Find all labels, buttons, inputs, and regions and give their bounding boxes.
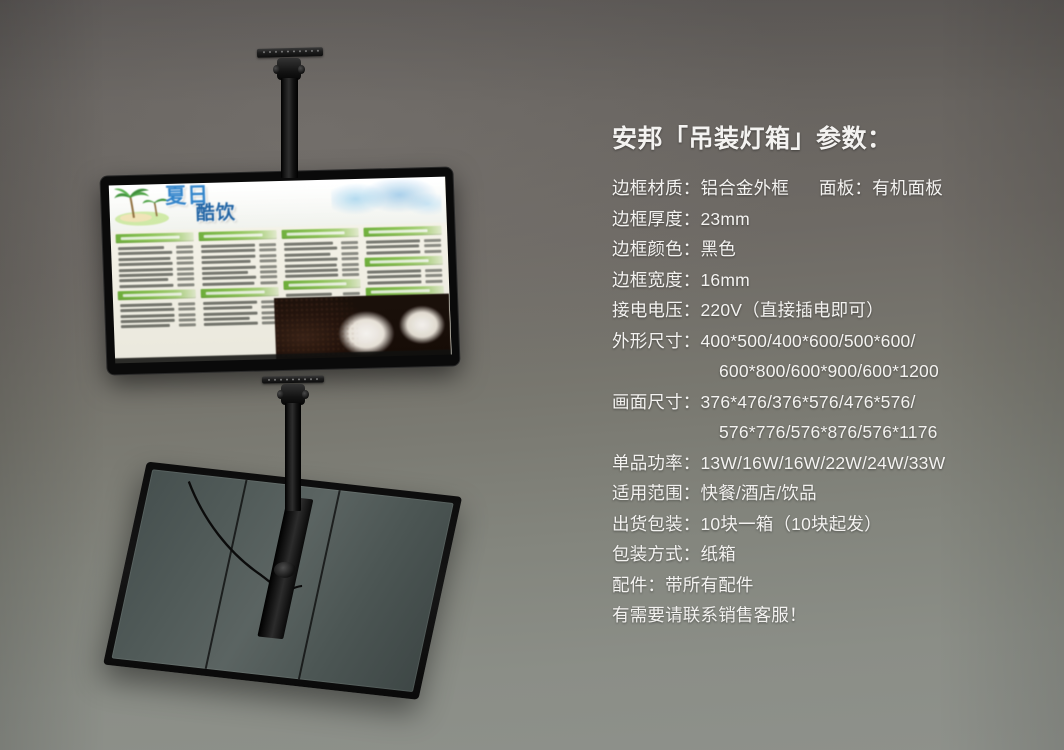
product-photo: 夏日 酷饮 bbox=[0, 0, 1064, 750]
menu-item-row bbox=[201, 259, 276, 264]
spec-line-application: 适用范围：快餐/酒店/饮品 bbox=[612, 478, 1042, 509]
water-splash-graphic bbox=[331, 178, 443, 223]
menu-category-header bbox=[118, 289, 196, 300]
menu-item-price bbox=[177, 278, 194, 281]
menu-category-header bbox=[198, 230, 276, 241]
menu-item-name bbox=[284, 263, 336, 267]
spec-label: 边框厚度： bbox=[612, 209, 701, 229]
spec-value: 576*776/576*876/576*1176 bbox=[719, 422, 938, 442]
menu-item-row bbox=[366, 244, 441, 249]
menu-item-row bbox=[118, 251, 193, 256]
menu-item-rows bbox=[281, 240, 360, 278]
spec-line-frame-color: 边框颜色：黑色 bbox=[612, 234, 1042, 265]
menu-item-name bbox=[284, 258, 338, 262]
menu-item-name bbox=[201, 254, 255, 258]
spec-line-screen-size-cont: 576*776/576*876/576*1176 bbox=[612, 417, 1042, 448]
menu-item-row bbox=[120, 313, 195, 318]
menu-item-row bbox=[284, 252, 359, 257]
menu-item-price bbox=[177, 283, 194, 286]
menu-item-row bbox=[203, 305, 278, 310]
menu-category-header bbox=[364, 226, 442, 237]
mount-swivel-joint-upper bbox=[277, 58, 301, 80]
spec-label: 配件： bbox=[612, 575, 665, 595]
spec-value: 黑色 bbox=[701, 239, 736, 259]
menu-item-price bbox=[342, 257, 359, 260]
light-box-mount-bracket bbox=[257, 496, 313, 639]
menu-item-row bbox=[120, 302, 195, 307]
spec-label: 接电电压： bbox=[612, 300, 701, 320]
ceiling-plate-holes bbox=[261, 49, 319, 54]
spec-value: 220V（直接插电即可） bbox=[701, 300, 884, 320]
spec-line-outer-size-cont: 600*800/600*900/600*1200 bbox=[612, 356, 1042, 387]
menu-item-price bbox=[176, 256, 193, 259]
menu-item-name bbox=[121, 324, 170, 328]
menu-item-name bbox=[367, 274, 421, 278]
spec-line-outer-size: 外形尺寸：400*500/400*600/500*600/ bbox=[612, 326, 1042, 357]
spec-line-voltage: 接电电压：220V（直接插电即可） bbox=[612, 295, 1042, 326]
menu-item-name bbox=[203, 306, 252, 310]
menu-item-name bbox=[283, 242, 332, 246]
menu-item-name bbox=[119, 273, 173, 277]
spec-value-secondary: 面板：有机面板 bbox=[789, 178, 943, 198]
spec-label: 包装方式： bbox=[612, 544, 701, 564]
hanging-light-box-display: 夏日 酷饮 bbox=[100, 167, 459, 374]
menu-column bbox=[198, 230, 280, 361]
menu-item-name bbox=[201, 260, 250, 264]
spec-line-screen-size: 画面尺寸：376*476/376*576/476*576/ bbox=[612, 387, 1042, 418]
menu-item-name bbox=[118, 246, 164, 250]
menu-item-rows bbox=[201, 299, 280, 327]
menu-item-row bbox=[203, 311, 278, 316]
spec-line-frame-width: 边框宽度：16mm bbox=[612, 265, 1042, 296]
spec-value: 纸箱 bbox=[701, 544, 736, 564]
menu-item-name bbox=[284, 268, 338, 272]
menu-item-name bbox=[284, 252, 330, 256]
spec-value: 铝合金外框 bbox=[701, 178, 790, 198]
menu-item-price bbox=[342, 252, 359, 255]
menu-title-line2: 酷饮 bbox=[195, 203, 236, 223]
menu-item-price bbox=[178, 318, 195, 321]
menu-item-name bbox=[119, 267, 173, 271]
spec-label: 单品功率： bbox=[612, 453, 701, 473]
menu-item-name bbox=[119, 284, 173, 288]
menu-item-price bbox=[179, 324, 196, 327]
spec-line-accessories: 配件：带所有配件 bbox=[612, 570, 1042, 601]
menu-item-name bbox=[204, 322, 258, 326]
menu-item-name bbox=[120, 313, 174, 317]
menu-item-price bbox=[424, 239, 441, 242]
menu-item-name bbox=[120, 308, 174, 312]
menu-item-name bbox=[203, 317, 249, 321]
menu-item-name bbox=[202, 281, 254, 285]
spec-label: 有需要请联系销售客服！ bbox=[612, 605, 807, 625]
menu-item-price bbox=[341, 246, 358, 249]
menu-item-row bbox=[367, 269, 442, 274]
menu-item-row bbox=[285, 273, 360, 278]
spec-label: 适用范围： bbox=[612, 483, 701, 503]
menu-item-price bbox=[424, 250, 441, 253]
menu-item-row bbox=[202, 270, 277, 275]
menu-item-rows bbox=[116, 244, 195, 288]
menu-item-price bbox=[425, 269, 442, 272]
bracket-pivot bbox=[272, 561, 297, 579]
menu-item-price bbox=[260, 275, 277, 278]
menu-item-row bbox=[284, 268, 359, 273]
menu-item-price bbox=[259, 254, 276, 257]
menu-category-header bbox=[281, 228, 359, 239]
menu-item-name bbox=[368, 280, 422, 284]
menu-item-price bbox=[178, 307, 195, 310]
menu-item-row bbox=[203, 316, 278, 321]
menu-item-price bbox=[258, 243, 275, 246]
menu-item-row bbox=[118, 245, 193, 250]
menu-item-name bbox=[121, 319, 175, 323]
menu-item-name bbox=[201, 244, 255, 248]
menu-item-price bbox=[176, 251, 193, 254]
menu-item-price bbox=[176, 261, 193, 264]
spec-value: 23mm bbox=[701, 209, 750, 229]
menu-item-name bbox=[285, 274, 339, 278]
menu-item-row bbox=[201, 248, 276, 253]
spec-line-list: 边框材质：铝合金外框面板：有机面板边框厚度：23mm边框颜色：黑色边框宽度：16… bbox=[612, 173, 1042, 631]
menu-item-price bbox=[342, 273, 359, 276]
menu-category-header bbox=[116, 232, 194, 243]
mount-pole-upper bbox=[281, 78, 298, 178]
menu-item-price bbox=[425, 274, 442, 277]
specification-panel: 安邦「吊装灯箱」参数： 边框材质：铝合金外框面板：有机面板边框厚度：23mm边框… bbox=[612, 124, 1042, 631]
menu-item-name bbox=[202, 265, 256, 269]
spec-value: 400*500/400*600/500*600/ bbox=[701, 331, 916, 351]
ceiling-mount-lower bbox=[262, 376, 332, 506]
menu-item-name bbox=[118, 257, 170, 261]
spec-value: 13W/16W/16W/22W/24W/33W bbox=[701, 453, 946, 473]
menu-item-name bbox=[119, 262, 173, 266]
spec-value: 600*800/600*900/600*1200 bbox=[719, 361, 939, 381]
spec-value: 376*476/376*576/476*576/ bbox=[701, 392, 916, 412]
menu-item-row bbox=[201, 254, 276, 259]
menu-item-name bbox=[202, 271, 248, 275]
menu-item-price bbox=[178, 313, 195, 316]
menu-item-rows bbox=[118, 301, 197, 329]
menu-item-price bbox=[177, 272, 194, 275]
spec-label: 边框材质： bbox=[612, 178, 701, 198]
menu-item-row bbox=[119, 272, 194, 277]
spec-label: 外形尺寸： bbox=[612, 331, 701, 351]
menu-item-name bbox=[367, 269, 421, 273]
menu-item-price bbox=[260, 281, 277, 284]
menu-item-rows bbox=[365, 268, 443, 285]
menu-item-price bbox=[259, 248, 276, 251]
menu-item-row bbox=[119, 267, 194, 272]
ceiling-mount-upper bbox=[255, 48, 325, 178]
menu-item-row bbox=[366, 239, 441, 244]
panel-seam-left bbox=[205, 480, 248, 669]
menu-item-price bbox=[178, 302, 195, 305]
spec-value: 16mm bbox=[701, 270, 750, 290]
menu-category-header bbox=[365, 256, 443, 267]
menu-item-price bbox=[259, 259, 276, 262]
spec-label: 出货包装： bbox=[612, 514, 701, 534]
menu-item-price bbox=[259, 265, 276, 268]
menu-item-name bbox=[120, 303, 172, 307]
menu-item-row bbox=[202, 265, 277, 270]
menu-item-row bbox=[202, 275, 277, 280]
menu-item-price bbox=[177, 267, 194, 270]
spec-value: 10块一箱（10块起发） bbox=[701, 514, 882, 534]
menu-item-name bbox=[118, 251, 172, 255]
spec-line-frame-material: 边框材质：铝合金外框面板：有机面板 bbox=[612, 173, 1042, 204]
spec-label: 边框颜色： bbox=[612, 239, 701, 259]
menu-item-price bbox=[341, 241, 358, 244]
mount-swivel-joint-lower bbox=[281, 384, 305, 405]
spec-label: 边框宽度： bbox=[612, 270, 701, 290]
spec-line-pack-method: 包装方式：纸箱 bbox=[612, 539, 1042, 570]
menu-item-row bbox=[118, 256, 193, 261]
menu-item-row bbox=[284, 262, 359, 267]
menu-item-name bbox=[203, 300, 257, 304]
menu-item-row bbox=[121, 324, 196, 329]
menu-item-row bbox=[284, 246, 359, 251]
menu-item-price bbox=[343, 292, 360, 295]
menu-item-name bbox=[284, 247, 338, 251]
menu-item-price bbox=[259, 270, 276, 273]
menu-item-row bbox=[283, 241, 358, 246]
menu-item-row bbox=[201, 243, 276, 248]
menu-item-price bbox=[342, 262, 359, 265]
menu-item-row bbox=[120, 307, 195, 312]
menu-item-row bbox=[121, 318, 196, 323]
menu-item-row bbox=[119, 283, 194, 288]
menu-item-name bbox=[202, 276, 256, 280]
menu-item-row bbox=[119, 261, 194, 266]
menu-screen: 夏日 酷饮 bbox=[109, 177, 451, 364]
mount-pole-lower bbox=[285, 403, 301, 511]
menu-item-name bbox=[119, 278, 168, 282]
menu-item-rows bbox=[364, 238, 442, 255]
menu-item-price bbox=[425, 279, 442, 282]
menu-item-name bbox=[367, 250, 421, 254]
menu-item-row bbox=[367, 274, 442, 279]
menu-item-name bbox=[203, 311, 257, 315]
mount-plate-lower bbox=[262, 375, 324, 383]
menu-item-name bbox=[366, 245, 418, 249]
menu-item-price bbox=[342, 268, 359, 271]
spec-title: 安邦「吊装灯箱」参数： bbox=[612, 124, 1042, 154]
spec-line-shipping-pack: 出货包装：10块一箱（10块起发） bbox=[612, 509, 1042, 540]
menu-category-header bbox=[200, 287, 278, 298]
menu-item-price bbox=[424, 244, 441, 247]
spec-value: 快餐/酒店/饮品 bbox=[701, 483, 817, 503]
menu-item-row bbox=[202, 281, 277, 286]
menu-item-row bbox=[204, 321, 279, 326]
menu-item-price bbox=[176, 245, 193, 248]
ceiling-plate bbox=[257, 47, 323, 58]
menu-item-row bbox=[367, 250, 442, 255]
spec-line-power: 单品功率：13W/16W/16W/22W/24W/33W bbox=[612, 448, 1042, 479]
spec-line-frame-thickness: 边框厚度：23mm bbox=[612, 204, 1042, 235]
spec-value: 带所有配件 bbox=[665, 575, 754, 595]
menu-item-row bbox=[368, 279, 443, 284]
menu-item-name bbox=[201, 249, 255, 253]
menu-category-header bbox=[283, 279, 361, 290]
menu-item-row bbox=[284, 257, 359, 262]
mount-plate-lower-holes bbox=[266, 378, 320, 382]
menu-item-row bbox=[203, 300, 278, 305]
menu-column bbox=[116, 232, 198, 363]
menu-item-name bbox=[366, 239, 420, 243]
menu-item-rows bbox=[199, 242, 278, 286]
spec-line-contact: 有需要请联系销售客服！ bbox=[612, 600, 1042, 631]
menu-item-row bbox=[119, 278, 194, 283]
spec-label: 画面尺寸： bbox=[612, 392, 701, 412]
